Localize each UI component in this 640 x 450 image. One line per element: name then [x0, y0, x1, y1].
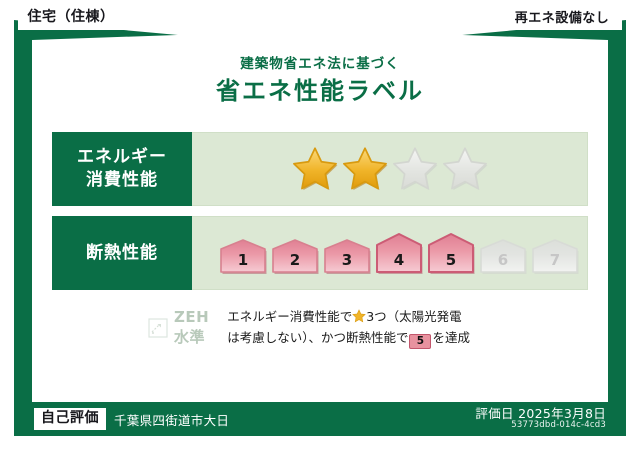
insulation-performance-panel: 1234567: [192, 216, 588, 290]
zeh-mark: ZEH水準: [52, 308, 209, 347]
star-filled-icon: [292, 146, 338, 192]
footer-right: 評価日 2025年3月8日 53773dbd-014c-4cd3: [475, 407, 606, 432]
inline-star-icon: [352, 309, 366, 323]
footer-bar: 自己評価 千葉県四街道市大日 評価日 2025年3月8日 53773dbd-01…: [14, 402, 626, 436]
insulation-grade-badge: 3: [322, 231, 372, 275]
energy-performance-label: エネルギー 消費性能: [52, 132, 192, 206]
page-title: 省エネ性能ラベル: [0, 76, 640, 107]
desc-part1: エネルギー消費性能で: [227, 309, 352, 324]
property-address: 千葉県四街道市大日: [114, 410, 229, 429]
insulation-label-line1: 断熱性能: [86, 242, 158, 265]
title-block: 建築物省エネ法に基づく 省エネ性能ラベル: [0, 56, 640, 107]
energy-performance-label: 住宅（住棟） 再エネ設備なし 建築物省エネ法に基づく 省エネ性能ラベル エネルギ…: [0, 0, 640, 450]
renewable-equipment-tag: 再エネ設備なし: [502, 2, 622, 30]
achievement-description: エネルギー消費性能で3つ（太陽光発電 は考慮しない）、かつ断熱性能で5を達成: [209, 306, 588, 349]
insulation-grade-badge: 2: [270, 231, 320, 275]
insulation-grade-number: 6: [478, 251, 528, 269]
insulation-grade-number: 7: [530, 251, 580, 269]
desc-part2: は考慮しない）、かつ断熱性能で: [227, 330, 408, 345]
self-evaluation-badge: 自己評価: [34, 408, 106, 430]
insulation-grade-badge: 6: [478, 231, 528, 275]
zeh-mark-icon: [148, 318, 168, 338]
insulation-grade-number: 3: [322, 251, 372, 269]
insulation-grade-number: 2: [270, 251, 320, 269]
insulation-grade-number: 1: [218, 251, 268, 269]
insulation-grade-number: 5: [426, 251, 476, 269]
insulation-grade-badge: 4: [374, 231, 424, 275]
star-empty-icon: [442, 146, 488, 192]
insulation-grade-scale: 1234567: [218, 231, 580, 275]
zeh-label: ZEH水準: [174, 308, 209, 347]
star-empty-icon: [392, 146, 438, 192]
desc-star-count: 3つ（太陽光発電: [366, 309, 461, 324]
title-subtitle: 建築物省エネ法に基づく: [0, 56, 640, 72]
star-rating: [292, 146, 488, 192]
label-id-hash: 53773dbd-014c-4cd3: [475, 420, 606, 431]
insulation-performance-row: 断熱性能 1234567: [52, 216, 588, 290]
energy-label-line1: エネルギー: [77, 146, 167, 169]
energy-performance-row: エネルギー 消費性能: [52, 132, 588, 206]
insulation-performance-label: 断熱性能: [52, 216, 192, 290]
insulation-grade-badge: 1: [218, 231, 268, 275]
insulation-grade-badge: 5: [426, 231, 476, 275]
energy-performance-panel: [192, 132, 588, 206]
insulation-grade-number: 4: [374, 251, 424, 269]
desc-part3: を達成: [432, 330, 470, 345]
energy-label-line2: 消費性能: [86, 169, 158, 192]
building-type-tag: 住宅（住棟）: [18, 2, 124, 30]
star-filled-icon: [342, 146, 388, 192]
evaluation-date: 評価日 2025年3月8日: [475, 407, 606, 421]
zeh-section: ZEH水準 エネルギー消費性能で3つ（太陽光発電 は考慮しない）、かつ断熱性能で…: [52, 306, 588, 349]
rating-rows: エネルギー 消費性能 断熱性能 1234567: [52, 132, 588, 300]
inline-grade-badge: 5: [409, 334, 431, 349]
insulation-grade-badge: 7: [530, 231, 580, 275]
